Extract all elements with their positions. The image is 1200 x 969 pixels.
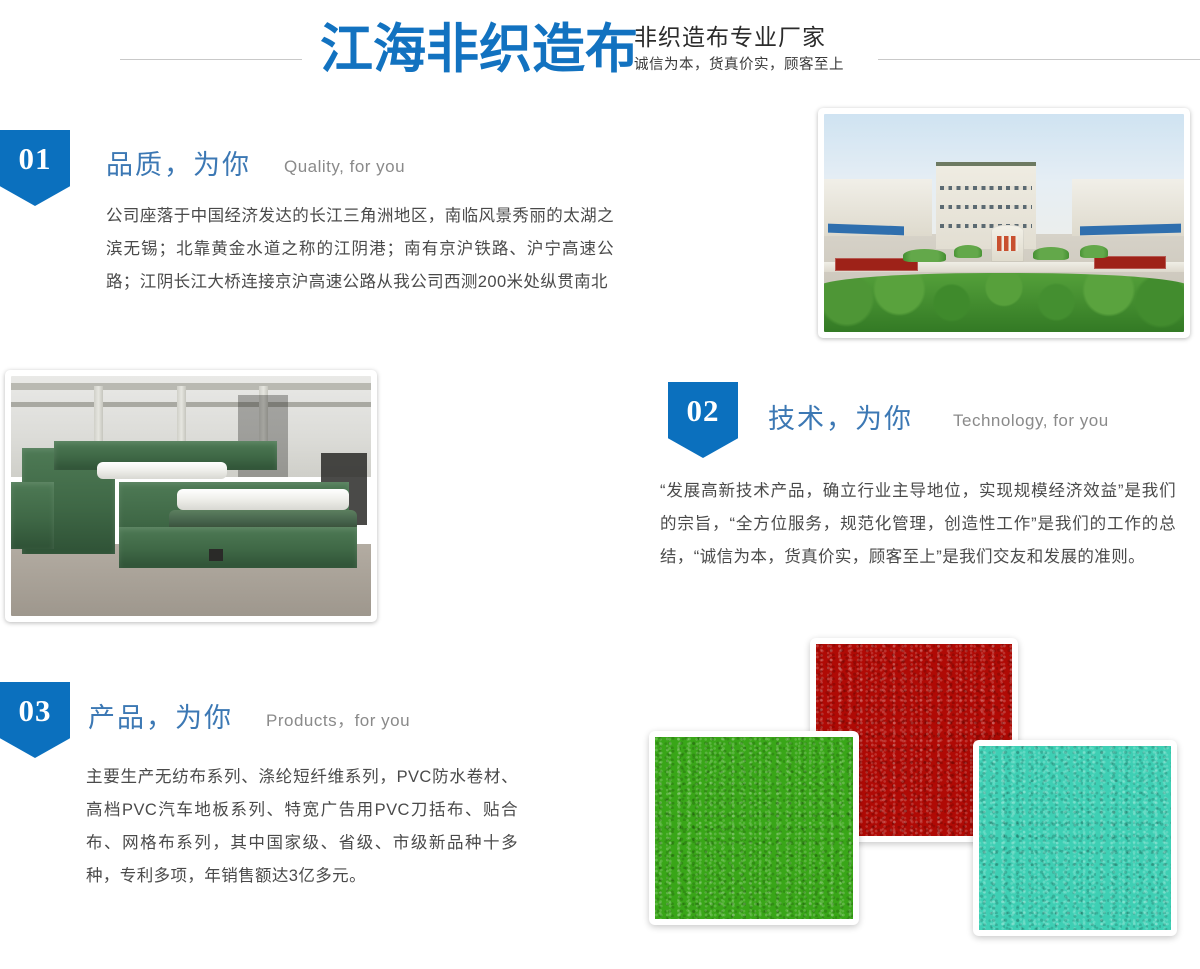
- header-rule-right: [878, 59, 1200, 60]
- section-title-cn-02: 技术，为你: [768, 402, 913, 436]
- section-body-02: “发展高新技术产品，确立行业主导地位，实现规模经济效益”是我们的宗旨，“全方位服…: [660, 475, 1176, 574]
- green-pvc-swatch: [649, 731, 859, 925]
- brand-tagline: 非织造布专业厂家: [634, 22, 874, 52]
- section-badge-01: 01: [0, 130, 70, 206]
- section-title-cn-01: 品质，为你: [106, 148, 251, 182]
- section-body-01: 公司座落于中国经济发达的长江三角洲地区，南临风景秀丽的太湖之滨无锡；北靠黄金水道…: [106, 200, 614, 299]
- brand-title: 江海非织造布: [320, 20, 638, 80]
- cyan-pvc-swatch: [973, 740, 1177, 936]
- building-hedge-row: [824, 273, 1184, 332]
- section-title-en-01: Quality, for you: [284, 150, 405, 184]
- brand-slogan: 诚信为本，货真价实，顾客至上: [634, 54, 874, 76]
- section-body-03: 主要生产无纺布系列、涤纶短纤维系列，PVC防水卷材、高档PVC汽车地板系列、特宽…: [86, 761, 518, 893]
- building-guard-house: [991, 225, 1023, 262]
- section-badge-02: 02: [668, 382, 738, 458]
- section-badge-03: 03: [0, 682, 70, 758]
- brand-block: 江海非织造布 非织造布专业厂家 诚信为本，货真价实，顾客至上: [320, 16, 880, 88]
- section-title-en-03: Products，for you: [266, 704, 410, 738]
- page-header: 江海非织造布 非织造布专业厂家 诚信为本，货真价实，顾客至上: [0, 0, 1200, 100]
- section-title-cn-03: 产品，为你: [88, 701, 233, 735]
- factory-building-photo: [818, 108, 1190, 338]
- header-rule-left: [120, 59, 302, 60]
- brand-side-text: 非织造布专业厂家 诚信为本，货真价实，顾客至上: [634, 22, 874, 76]
- nonwoven-production-machine-photo: [5, 370, 377, 622]
- section-title-en-02: Technology, for you: [953, 404, 1109, 438]
